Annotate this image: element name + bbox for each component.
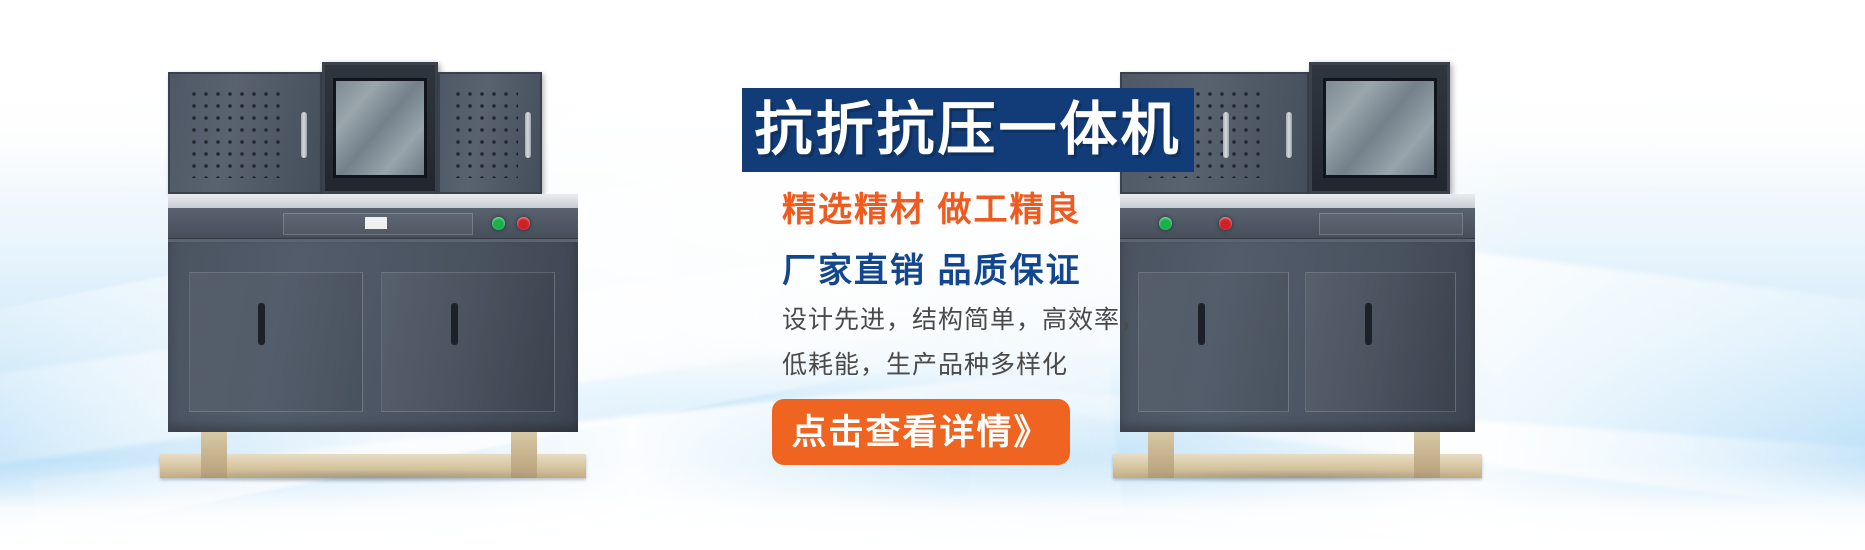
description-line-1: 设计先进，结构简单，高效率， [782, 300, 1146, 336]
cabinet-door [1138, 272, 1289, 412]
product-promo-banner: 抗折抗压一体机 精选精材 做工精良 厂家直销 品质保证 设计先进，结构简单，高效… [0, 0, 1865, 550]
power-led-green [1159, 217, 1172, 230]
door-handle-icon [1198, 303, 1205, 345]
cabinet-handle-icon [301, 112, 307, 158]
view-details-label: 点击查看详情》 [791, 415, 1050, 450]
perforated-cabinet-left [168, 72, 322, 194]
perforated-cabinet-left-side [438, 72, 542, 194]
cabinet-handle-icon [525, 112, 531, 158]
door-handle-icon [1365, 303, 1372, 345]
banner-title-plate: 抗折抗压一体机 [742, 88, 1194, 172]
description-line-2: 低耗能，生产品种多样化 [782, 345, 1068, 381]
control-monitor-right [1309, 62, 1450, 194]
control-drawer [1319, 213, 1463, 235]
cabinet-handle-icon [1223, 112, 1229, 158]
product-shadow [1106, 470, 1489, 484]
control-drawer-label [365, 217, 387, 229]
perforation-pattern [188, 88, 287, 178]
door-handle-icon [258, 303, 265, 345]
machine-deck-left [168, 194, 578, 208]
subtitle-primary: 精选精材 做工精良 [782, 182, 1081, 231]
perforation-pattern [452, 88, 518, 178]
control-strip-right [1120, 208, 1475, 239]
monitor-screen [333, 78, 427, 177]
control-monitor-left [322, 62, 438, 194]
page-title: 抗折抗压一体机 [754, 101, 1181, 159]
machine-upper-section-left [168, 64, 578, 194]
control-strip-left [168, 208, 578, 239]
machine-deck-right [1120, 194, 1475, 208]
power-led-green [492, 217, 505, 230]
subtitle-secondary: 厂家直销 品质保证 [782, 243, 1081, 292]
lower-cabinet-right [1120, 239, 1475, 432]
cabinet-door [1305, 272, 1456, 412]
monitor-screen [1323, 78, 1437, 177]
cabinet-door [381, 272, 555, 412]
lower-cabinet-left [168, 239, 578, 432]
stop-led-red [1219, 217, 1232, 230]
product-image-left [168, 64, 578, 432]
cabinet-door [189, 272, 363, 412]
stop-led-red [517, 217, 530, 230]
view-details-button[interactable]: 点击查看详情》 [772, 399, 1070, 465]
door-handle-icon [451, 303, 458, 345]
cabinet-handle-icon [1286, 112, 1292, 158]
product-shadow [152, 470, 595, 484]
